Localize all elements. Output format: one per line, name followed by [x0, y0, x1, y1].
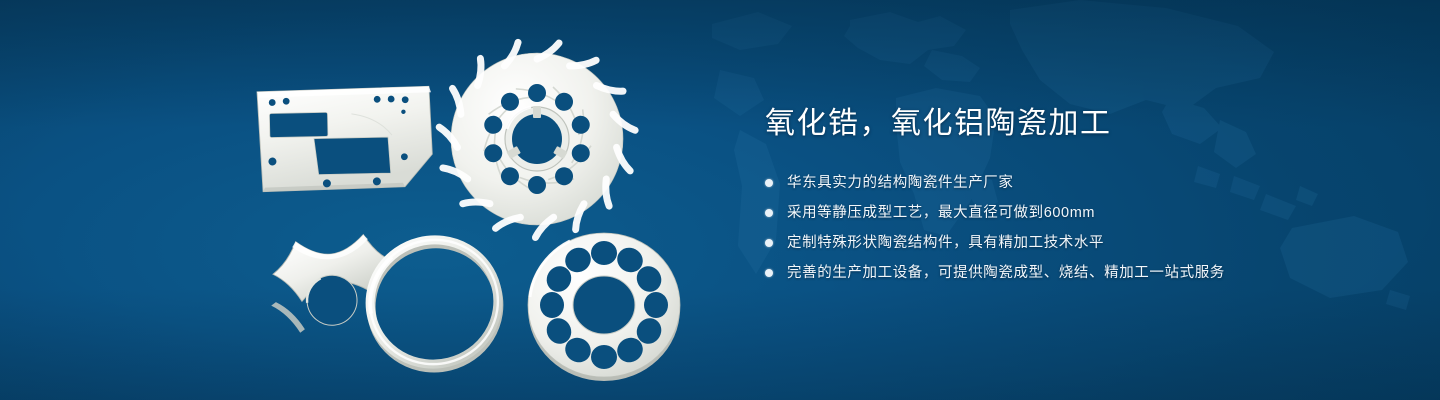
list-item: 定制特殊形状陶瓷结构件，具有精加工技术水平	[765, 232, 1325, 254]
ceramic-holed-disc	[517, 230, 691, 380]
hero-banner: 氧化锆，氧化铝陶瓷加工 华东具实力的结构陶瓷件生产厂家 采用等静压成型工艺，最大…	[0, 0, 1440, 400]
bullet-dot-icon	[765, 179, 773, 187]
bullet-dot-icon	[765, 209, 773, 217]
list-item: 采用等静压成型工艺，最大直径可做到600mm	[765, 202, 1325, 224]
feature-text: 采用等静压成型工艺，最大直径可做到600mm	[787, 202, 1095, 224]
feature-text: 华东具实力的结构陶瓷件生产厂家	[787, 172, 1014, 194]
banner-copy: 氧化锆，氧化铝陶瓷加工 华东具实力的结构陶瓷件生产厂家 采用等静压成型工艺，最大…	[765, 104, 1325, 292]
banner-headline: 氧化锆，氧化铝陶瓷加工	[765, 104, 1325, 144]
list-item: 完善的生产加工设备，可提供陶瓷成型、烧结、精加工一站式服务	[765, 262, 1325, 284]
bullet-dot-icon	[765, 269, 773, 277]
feature-text: 定制特殊形状陶瓷结构件，具有精加工技术水平	[787, 232, 1104, 254]
ceramic-impeller	[444, 50, 630, 228]
product-photo-cluster	[232, 40, 732, 380]
feature-list: 华东具实力的结构陶瓷件生产厂家 采用等静压成型工艺，最大直径可做到600mm 定…	[765, 172, 1325, 284]
ceramic-machined-plate	[251, 82, 439, 198]
list-item: 华东具实力的结构陶瓷件生产厂家	[765, 172, 1325, 194]
bullet-dot-icon	[765, 239, 773, 247]
feature-text: 完善的生产加工设备，可提供陶瓷成型、烧结、精加工一站式服务	[787, 262, 1225, 284]
ceramic-thin-ring	[350, 228, 516, 376]
